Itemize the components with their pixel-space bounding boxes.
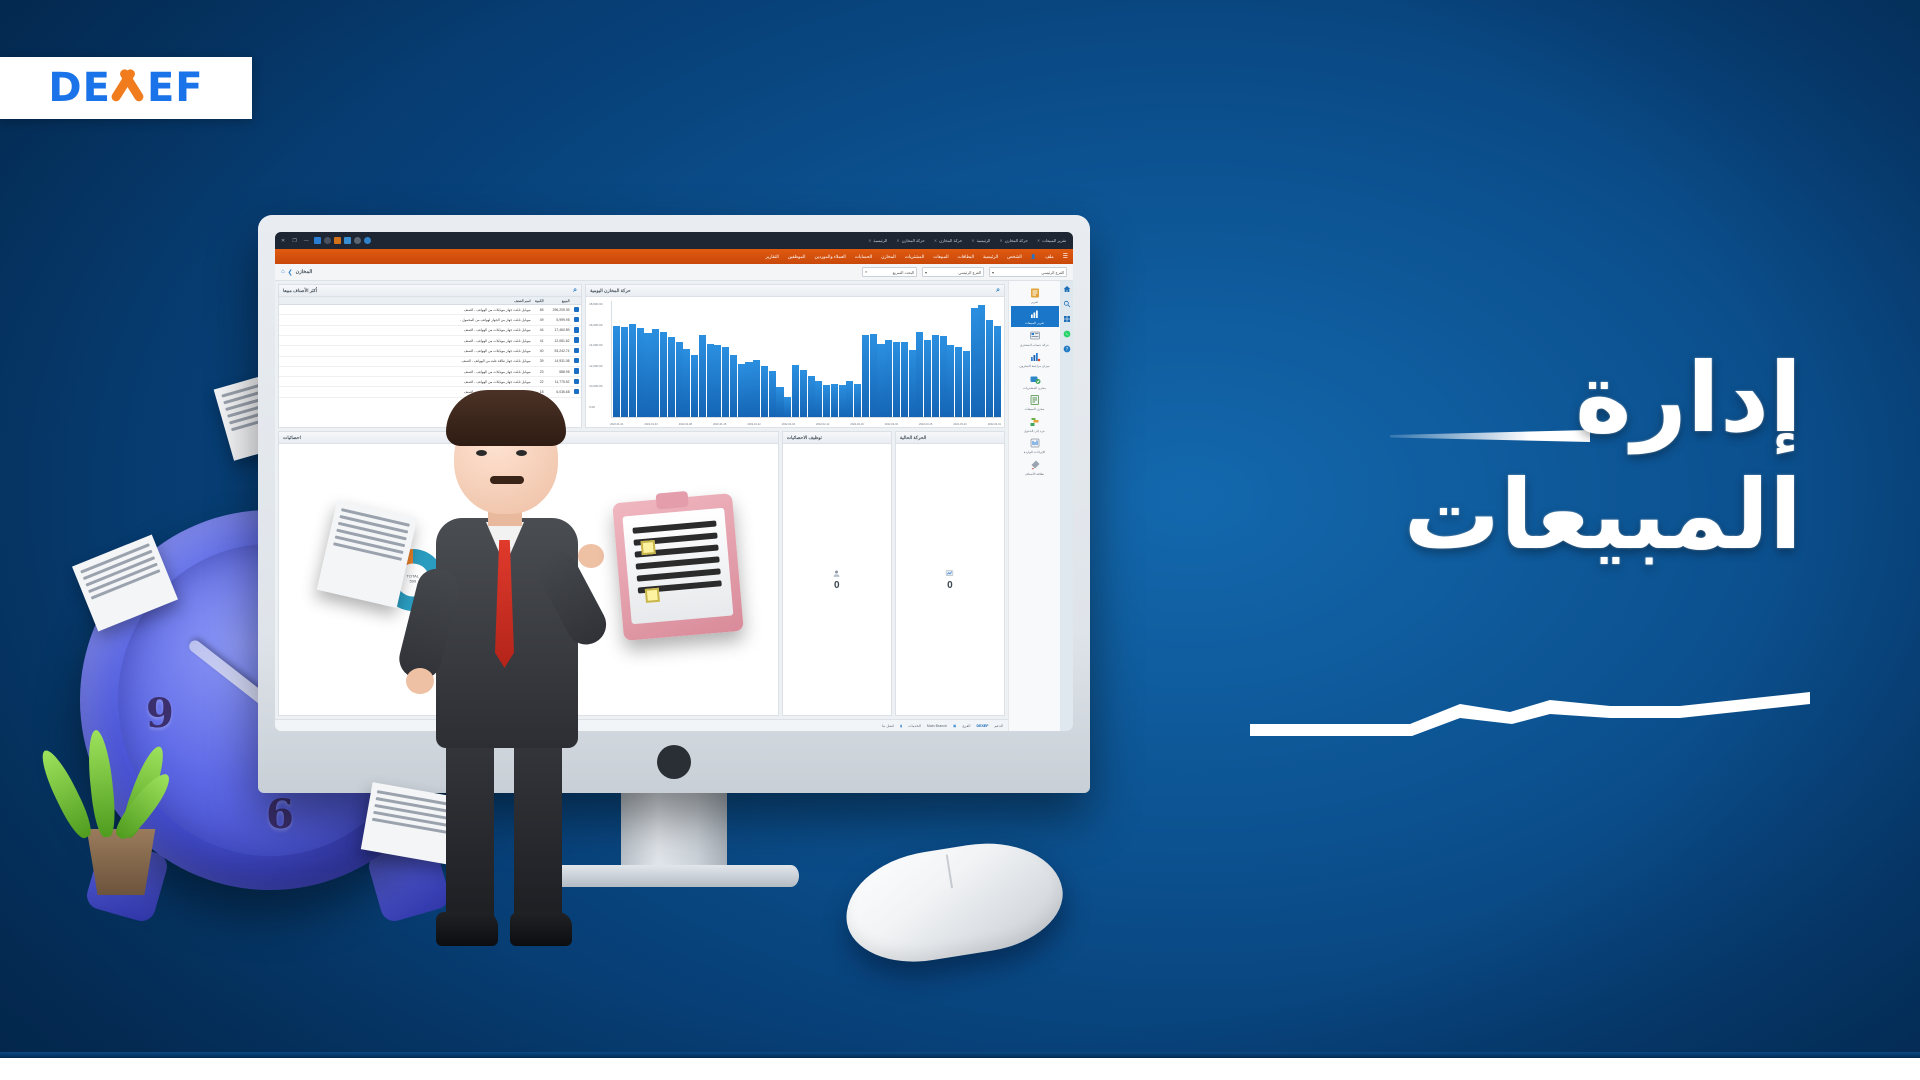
character-moustache xyxy=(490,476,524,484)
row-magnifier-button[interactable] xyxy=(572,325,582,335)
sidebar-item-sales-report[interactable]: تقرير المبيعات xyxy=(1011,306,1059,328)
x-axis-tick: 2022-02-12 xyxy=(816,423,829,426)
bar-chart-bar xyxy=(885,340,892,417)
bar-chart-bar xyxy=(877,344,884,417)
row-magnifier-button[interactable] xyxy=(572,315,582,325)
character-leg-left xyxy=(446,738,494,924)
x-axis-tick: 2022-02-04 xyxy=(782,423,795,426)
browser-tab-label: الرئيسية xyxy=(977,238,991,243)
table-row[interactable]: 14,931.0839موبايل تابلت جهاز طاقة علبة م… xyxy=(279,356,581,366)
branch-select[interactable]: الفرع الرئيسي ▾ xyxy=(989,267,1067,277)
hamburger-menu-icon[interactable]: ☰ xyxy=(1063,253,1068,260)
browser-tab-label: حركة المخازن xyxy=(902,238,925,243)
table-panel-header: ⌕ أكثر الأصناف مبيعا xyxy=(279,285,581,297)
bar-chart-bar xyxy=(652,329,659,417)
sidebar-item-item-cleanup[interactable]: نظافة الأصناف xyxy=(1011,456,1059,478)
cell-item-name: موبايل تابلت جهاز طاقة علبة من الهواتف -… xyxy=(279,356,533,366)
x-axis-tick: 2022-04-01 xyxy=(988,423,1001,426)
bar-chart-bar xyxy=(870,334,877,417)
bar-chart-bar xyxy=(660,332,667,417)
bar-chart-bar xyxy=(699,335,706,417)
browser-tab-label: الرئيسية xyxy=(873,238,887,243)
bar-chart-bar xyxy=(753,360,760,417)
search-icon[interactable] xyxy=(1063,300,1071,308)
bar-chart-bar xyxy=(644,333,651,417)
bar-chart-bar xyxy=(978,305,985,417)
menu-item-warehouses[interactable]: المخازن xyxy=(881,254,896,260)
page-title: المخازن xyxy=(296,269,313,275)
table-panel-search-icon[interactable]: ⌕ xyxy=(573,287,577,295)
cell-quantity: 44 xyxy=(533,325,546,335)
cell-quantity: 39 xyxy=(533,356,546,366)
monitor-power-dot xyxy=(657,745,691,779)
y-axis-tick: 16,000.00 xyxy=(589,323,602,327)
x-axis-tick: 2022-01-08 xyxy=(679,423,692,426)
table-row[interactable]: 5,999.9549موبايل تابلت جهاز من الجهاز له… xyxy=(279,315,581,325)
character-shoe-right xyxy=(510,912,572,946)
module-sidebar: تقرير تقرير المبيعات حركة حساب المشتري xyxy=(1008,281,1060,731)
dashboard-top-row: ⌕ حركة المخازن اليومية 18,000.0016,000.0… xyxy=(275,281,1008,431)
clipboard-checkbox xyxy=(641,540,656,555)
search-icon[interactable]: ⌕ xyxy=(865,270,867,274)
clock-number-6: 6 xyxy=(266,791,294,838)
menu-item-customers-suppliers[interactable]: العملاء والموردين xyxy=(815,254,846,260)
bar-chart-bar xyxy=(955,347,962,417)
row-magnifier-button[interactable] xyxy=(572,356,582,366)
chart-panel-header: ⌕ حركة المخازن اليومية xyxy=(586,285,1004,297)
sidebar-item-incoming-revenue[interactable]: الإيرادات الواردة xyxy=(1011,435,1059,457)
bar-chart-bar xyxy=(893,342,900,417)
y-axis-tick: 18,000.00 xyxy=(589,302,602,306)
sidebar-item-label: مخزن المبيعات xyxy=(1025,407,1045,411)
chart-icon: ▮ xyxy=(900,724,902,728)
bar-chart-bar xyxy=(924,340,931,417)
browser-tab[interactable]: ✕حركة المخازن xyxy=(893,238,928,243)
character-leg-right xyxy=(514,738,562,924)
sidebar-item-buyer-account[interactable]: حركة حساب المشتري xyxy=(1011,327,1059,349)
row-magnifier-button[interactable] xyxy=(572,346,582,356)
sidebar-item-inventory-balance[interactable]: ميزان مراجعة المخزون xyxy=(1011,349,1059,371)
account-icon[interactable]: 👤 xyxy=(1031,254,1036,260)
headline-line-2: المبيعات xyxy=(1182,457,1802,574)
character-eye-right xyxy=(516,450,527,456)
inventory-icon xyxy=(1029,416,1041,428)
bar-chart-bar xyxy=(815,381,822,417)
x-axis-tick: 2022-01-04 xyxy=(644,423,657,426)
page-headline: إدارة المبيعات xyxy=(1182,340,1802,574)
mini-panel-body: 0 xyxy=(783,444,891,715)
logo-ef: EF xyxy=(147,65,204,111)
mini-panel-body: 0 xyxy=(896,444,1004,715)
cell-item-name: موبايل تابلت جهاز موبايلات من الهواتف - … xyxy=(279,325,533,335)
home-icon[interactable] xyxy=(1063,285,1071,293)
monitor-screen: ✕ ❐ — ✕الرئيسية ✕حركة المخازن ✕حركة المخ… xyxy=(275,232,1073,731)
monitor-stand-neck xyxy=(621,787,727,871)
browser-tab[interactable]: ✕حركة المخازن xyxy=(931,238,966,243)
report-icon xyxy=(1029,287,1041,299)
bar-chart-bar xyxy=(621,327,628,417)
bar-chart-bar xyxy=(994,326,1001,418)
secondary-select-value: الفرع الرئيسي xyxy=(958,270,981,275)
clipboard-checkbox xyxy=(645,588,660,603)
mini-panel-title: الحركة الحالية xyxy=(900,435,926,441)
sidebar-item-label: تقرير xyxy=(1031,300,1038,304)
branch-icon: ▣ xyxy=(953,724,956,728)
bar-chart-bar xyxy=(971,308,978,417)
cell-amount: 5,999.95 xyxy=(546,315,572,325)
bar-chart-bar xyxy=(714,345,721,417)
bar-chart-bar xyxy=(629,324,636,417)
cell-item-name: موبايل تابلت جهاز من الجهاز لهواتف من ال… xyxy=(279,315,533,325)
mini-panel-value: 0 xyxy=(834,580,840,591)
browser-tabstrip: ✕ ❐ — ✕الرئيسية ✕حركة المخازن ✕حركة المخ… xyxy=(275,232,1073,249)
search-icon[interactable] xyxy=(574,307,580,313)
y-axis-tick: 12,000.00 xyxy=(589,364,602,368)
mini-panel-title: توظيف الاحصائيات xyxy=(787,435,822,441)
print-icon[interactable] xyxy=(344,237,351,244)
footer-strip xyxy=(0,1058,1920,1080)
chevron-down-icon[interactable]: ▾ xyxy=(992,270,994,275)
cell-amount: 296,209.39 xyxy=(546,305,572,315)
bar-chart-bar xyxy=(691,355,698,418)
character-eye-left xyxy=(476,450,487,456)
bar-chart-bar xyxy=(916,332,923,417)
bar-chart-bar xyxy=(761,366,768,417)
filter-toolbar: الفرع الرئيسي ▾ الفرع الرئيسي ▾ البحث ال… xyxy=(275,264,1073,281)
browser-tab-label: تقرير المبيعات xyxy=(1042,238,1066,243)
bar-chart-bar xyxy=(738,364,745,417)
sidebar-item-label: مخزن المشتريات xyxy=(1023,386,1046,390)
footer-item-support[interactable]: الدعم xyxy=(994,724,1003,728)
table-row[interactable]: 296,209.3965موبايل تابلت جهاز موبايلات م… xyxy=(279,305,581,315)
table-row[interactable]: 53,242.7440موبايل تابلت جهاز موبايلات من… xyxy=(279,346,581,356)
bar-chart-bar xyxy=(940,336,947,417)
settings-icon[interactable] xyxy=(364,237,371,244)
employment-icon xyxy=(832,569,841,578)
refresh-icon[interactable] xyxy=(324,237,331,244)
sidebar-item-label: جرد إذن الدخول xyxy=(1024,429,1045,433)
ledger-icon xyxy=(1029,330,1041,342)
bar-chart-bar xyxy=(854,384,861,418)
bar-chart-bar xyxy=(676,342,683,417)
x-axis-tick: 2022-01-22 xyxy=(747,423,760,426)
browser-tab-label: حركة المخازن xyxy=(939,238,962,243)
help-icon[interactable]: ? xyxy=(1063,345,1071,353)
bar-chart-bar xyxy=(831,384,838,417)
search-icon[interactable] xyxy=(574,327,580,333)
mini-panel-header: توظيف الاحصائيات xyxy=(783,432,891,444)
bar-chart-bar xyxy=(707,344,714,417)
bar-chart-bar xyxy=(823,385,830,417)
decorative-plant xyxy=(52,715,182,895)
bar-chart-bar xyxy=(776,387,783,417)
sidebar-item-purchase-store[interactable]: مخزن المشتريات xyxy=(1011,370,1059,392)
bar-chart-bar xyxy=(901,342,908,417)
mini-panel-value: 0 xyxy=(947,580,953,591)
whatsapp-icon[interactable] xyxy=(1063,330,1071,338)
main-navigation-bar: ☰ ملف 👤 الشخص الرئيسية البطاقات المبيعات… xyxy=(275,249,1073,264)
menu-item-employees[interactable]: الموظفين xyxy=(788,254,806,260)
footer-item-services[interactable]: الخدمات xyxy=(908,724,921,728)
menu-item-reports[interactable]: التقارير xyxy=(766,254,779,260)
bar-chart-icon xyxy=(1029,308,1041,320)
row-magnifier-button[interactable] xyxy=(572,336,582,346)
current-movement-panel: الحركة الحالية 0 xyxy=(895,431,1005,716)
logo-de: DE xyxy=(48,65,111,111)
folder-icon[interactable] xyxy=(334,237,341,244)
menu-item-accounts[interactable]: الحسابات xyxy=(855,254,872,260)
search-input[interactable]: البحث السريع ⌕ xyxy=(862,267,917,277)
cell-item-name: موبايل تابلت جهاز موبايلات من الهواتف - … xyxy=(279,346,533,356)
cell-amount: 14,931.08 xyxy=(546,356,572,366)
cell-quantity: 65 xyxy=(533,305,546,315)
sidebar-item-label: حركة حساب المشتري xyxy=(1020,343,1049,347)
plant-leaf xyxy=(85,729,118,838)
secondary-select[interactable]: الفرع الرئيسي ▾ xyxy=(922,267,984,277)
cleanup-icon xyxy=(1029,459,1041,471)
purchase-icon xyxy=(1029,373,1041,385)
menu-item-sales[interactable]: المبيعات xyxy=(933,254,948,260)
bar-chart-bar xyxy=(722,347,729,417)
bar-chart: 18,000.0016,000.0014,000.0012,000.0010,0… xyxy=(586,297,1004,427)
headline-line-1: إدارة xyxy=(1182,340,1802,457)
sidebar-item-label: الإيرادات الواردة xyxy=(1024,450,1045,454)
bar-chart-bar xyxy=(932,335,939,417)
bar-chart-bar xyxy=(637,328,644,417)
menu-item-username[interactable]: الشخص xyxy=(1007,254,1022,260)
window-restore-icon[interactable]: ❐ xyxy=(290,238,298,244)
bar-chart-bar xyxy=(769,371,776,417)
branch-select-value: الفرع الرئيسي xyxy=(1041,270,1064,275)
bar-chart-bar xyxy=(839,385,846,417)
footer-item-branch-label: الفرع xyxy=(962,724,970,728)
bar-chart-bar xyxy=(963,351,970,417)
headline-swoosh-decoration xyxy=(1250,690,1810,740)
menu-item-purchases[interactable]: المشتريات xyxy=(905,254,924,260)
cell-quantity: 41 xyxy=(533,336,546,346)
bar-chart-bar xyxy=(947,345,954,417)
sidebar-item-entry-permit[interactable]: جرد إذن الدخول xyxy=(1011,413,1059,435)
bar-chart-bar xyxy=(730,355,737,417)
cell-amount: 12,081.62 xyxy=(546,336,572,346)
chart-panel-title: حركة المخازن اليومية xyxy=(590,288,631,294)
table-panel-title: أكثر الأصناف مبيعا xyxy=(283,288,317,294)
table-column-header[interactable]: الكمية xyxy=(533,297,546,305)
sales-icon xyxy=(1029,394,1041,406)
window-close-icon[interactable]: ✕ xyxy=(279,238,287,244)
bar-chart-bar xyxy=(986,320,993,417)
table-row[interactable]: 12,081.6241موبايل تابلت جهاز موبايلات من… xyxy=(279,336,581,346)
browser-tab[interactable]: ✕تقرير المبيعات xyxy=(1034,238,1069,243)
menu-item-home[interactable]: الرئيسية xyxy=(983,254,998,260)
bar-chart-bar xyxy=(846,381,853,417)
bar-chart-bar xyxy=(808,376,815,417)
apps-icon[interactable] xyxy=(1063,315,1071,323)
table-header-row: المبيعالكميةاسم الصنف xyxy=(279,297,581,305)
footer-item-branch-value: Main Branch xyxy=(927,724,947,728)
character-hand-left xyxy=(406,668,434,694)
balance-icon xyxy=(1029,351,1041,363)
bar-chart-bar xyxy=(800,370,807,417)
statistics-employment-panel: توظيف الاحصائيات 0 xyxy=(782,431,892,716)
x-axis-tick: 2022-01-15 xyxy=(713,423,726,426)
bar-chart-bar xyxy=(745,362,752,417)
clipboard-paper xyxy=(622,508,733,624)
cell-amount: 17,460.89 xyxy=(546,325,572,335)
erp-application: ✕ ❐ — ✕الرئيسية ✕حركة المخازن ✕حركة المخ… xyxy=(275,232,1073,731)
cell-quantity: 40 xyxy=(533,346,546,356)
chart-panel-search-icon[interactable]: ⌕ xyxy=(996,287,1000,295)
chevron-down-icon[interactable]: ▾ xyxy=(925,270,927,275)
cell-amount: 53,242.74 xyxy=(546,346,572,356)
cell-item-name: موبايل تابلت جهاز موبايلات من الهواتف - … xyxy=(279,305,533,315)
mouse-scroll-divider xyxy=(946,854,953,888)
clipboard-clip xyxy=(656,491,689,510)
browser-tab[interactable]: ✕الرئيسية xyxy=(968,238,993,243)
table-row[interactable]: 17,460.8944موبايل تابلت جهاز موبايلات من… xyxy=(279,325,581,335)
sidebar-item-label: ميزان مراجعة المخزون xyxy=(1019,364,1049,368)
save-icon[interactable] xyxy=(314,237,321,244)
browser-tab-label: حركة المخازن xyxy=(1005,238,1028,243)
sidebar-item-report[interactable]: تقرير xyxy=(1011,284,1059,306)
cell-quantity: 49 xyxy=(533,315,546,325)
bar-chart-bar xyxy=(784,397,791,417)
table-column-header[interactable]: المبيع xyxy=(546,297,572,305)
browser-tab[interactable]: ✕الرئيسية xyxy=(865,238,890,243)
x-axis-tick: 2022-02-19 xyxy=(850,423,863,426)
bar-chart-bar xyxy=(862,335,869,417)
movement-icon xyxy=(945,569,954,578)
daily-warehouse-chart-panel: ⌕ حركة المخازن اليومية 18,000.0016,000.0… xyxy=(585,284,1005,428)
browser-tab[interactable]: ✕حركة المخازن xyxy=(996,238,1031,243)
incoming-icon xyxy=(1029,437,1041,449)
search-input-value: البحث السريع xyxy=(893,270,914,275)
y-axis-tick: 14,000.00 xyxy=(589,343,602,347)
x-axis-tick: 2022-03-23 xyxy=(953,423,966,426)
footer-item-contact[interactable]: اتصل بنا xyxy=(882,724,894,728)
menu-item-cards[interactable]: البطاقات xyxy=(958,254,974,260)
bar-chart-bar xyxy=(909,350,916,417)
x-axis-tick: 2022-03-15 xyxy=(919,423,932,426)
bar-chart-bar xyxy=(792,365,799,417)
row-magnifier-button[interactable] xyxy=(572,305,582,315)
cell-item-name: موبايل تابلت جهاز موبايلات من الهواتف - … xyxy=(279,336,533,346)
search-icon[interactable] xyxy=(574,358,580,364)
businessman-character xyxy=(402,372,618,972)
mini-panel-header: الحركة الحالية xyxy=(896,432,1004,444)
bar-chart-bar xyxy=(683,349,690,417)
x-axis-tick: 2022-03-04 xyxy=(885,423,898,426)
sidebar-item-sales-store[interactable]: مخزن المبيعات xyxy=(1011,392,1059,414)
menu-item-profile[interactable]: ملف xyxy=(1045,254,1053,260)
stats-panel-title: احصائيات xyxy=(283,435,301,441)
brand-logo-text: DE EF xyxy=(48,65,203,111)
user-icon[interactable] xyxy=(354,237,361,244)
app-status-bar: الدعم DEXEF الفرع ▣ Main Branch الخدمات … xyxy=(275,719,1008,731)
search-icon[interactable] xyxy=(574,348,580,354)
sidebar-item-label: تقرير المبيعات xyxy=(1025,321,1044,325)
footer-brand: DEXEF xyxy=(976,724,988,728)
bar-chart-x-axis: 2022-01-012022-01-042022-01-082022-01-15… xyxy=(610,423,1001,426)
table-column-header[interactable] xyxy=(572,297,582,305)
quick-action-rail: ? xyxy=(1060,281,1073,731)
logo-x-icon xyxy=(112,68,146,108)
decorative-clipboard xyxy=(612,493,744,641)
character-shoe-left xyxy=(436,912,498,946)
window-minimize-icon[interactable]: — xyxy=(302,238,311,244)
chevron-right-icon[interactable]: ❯ xyxy=(288,269,293,276)
character-hand-right xyxy=(578,544,604,568)
search-icon[interactable] xyxy=(574,337,580,343)
character-hair xyxy=(446,390,566,446)
home-icon[interactable]: ⌂ xyxy=(281,269,285,275)
sidebar-item-label: نظافة الأصناف xyxy=(1025,472,1044,476)
search-icon[interactable] xyxy=(574,317,580,323)
table-column-header[interactable]: اسم الصنف xyxy=(279,297,533,305)
bar-chart-bars xyxy=(611,301,1001,418)
bar-chart-bar xyxy=(668,337,675,417)
brand-logo: DE EF xyxy=(0,57,252,119)
